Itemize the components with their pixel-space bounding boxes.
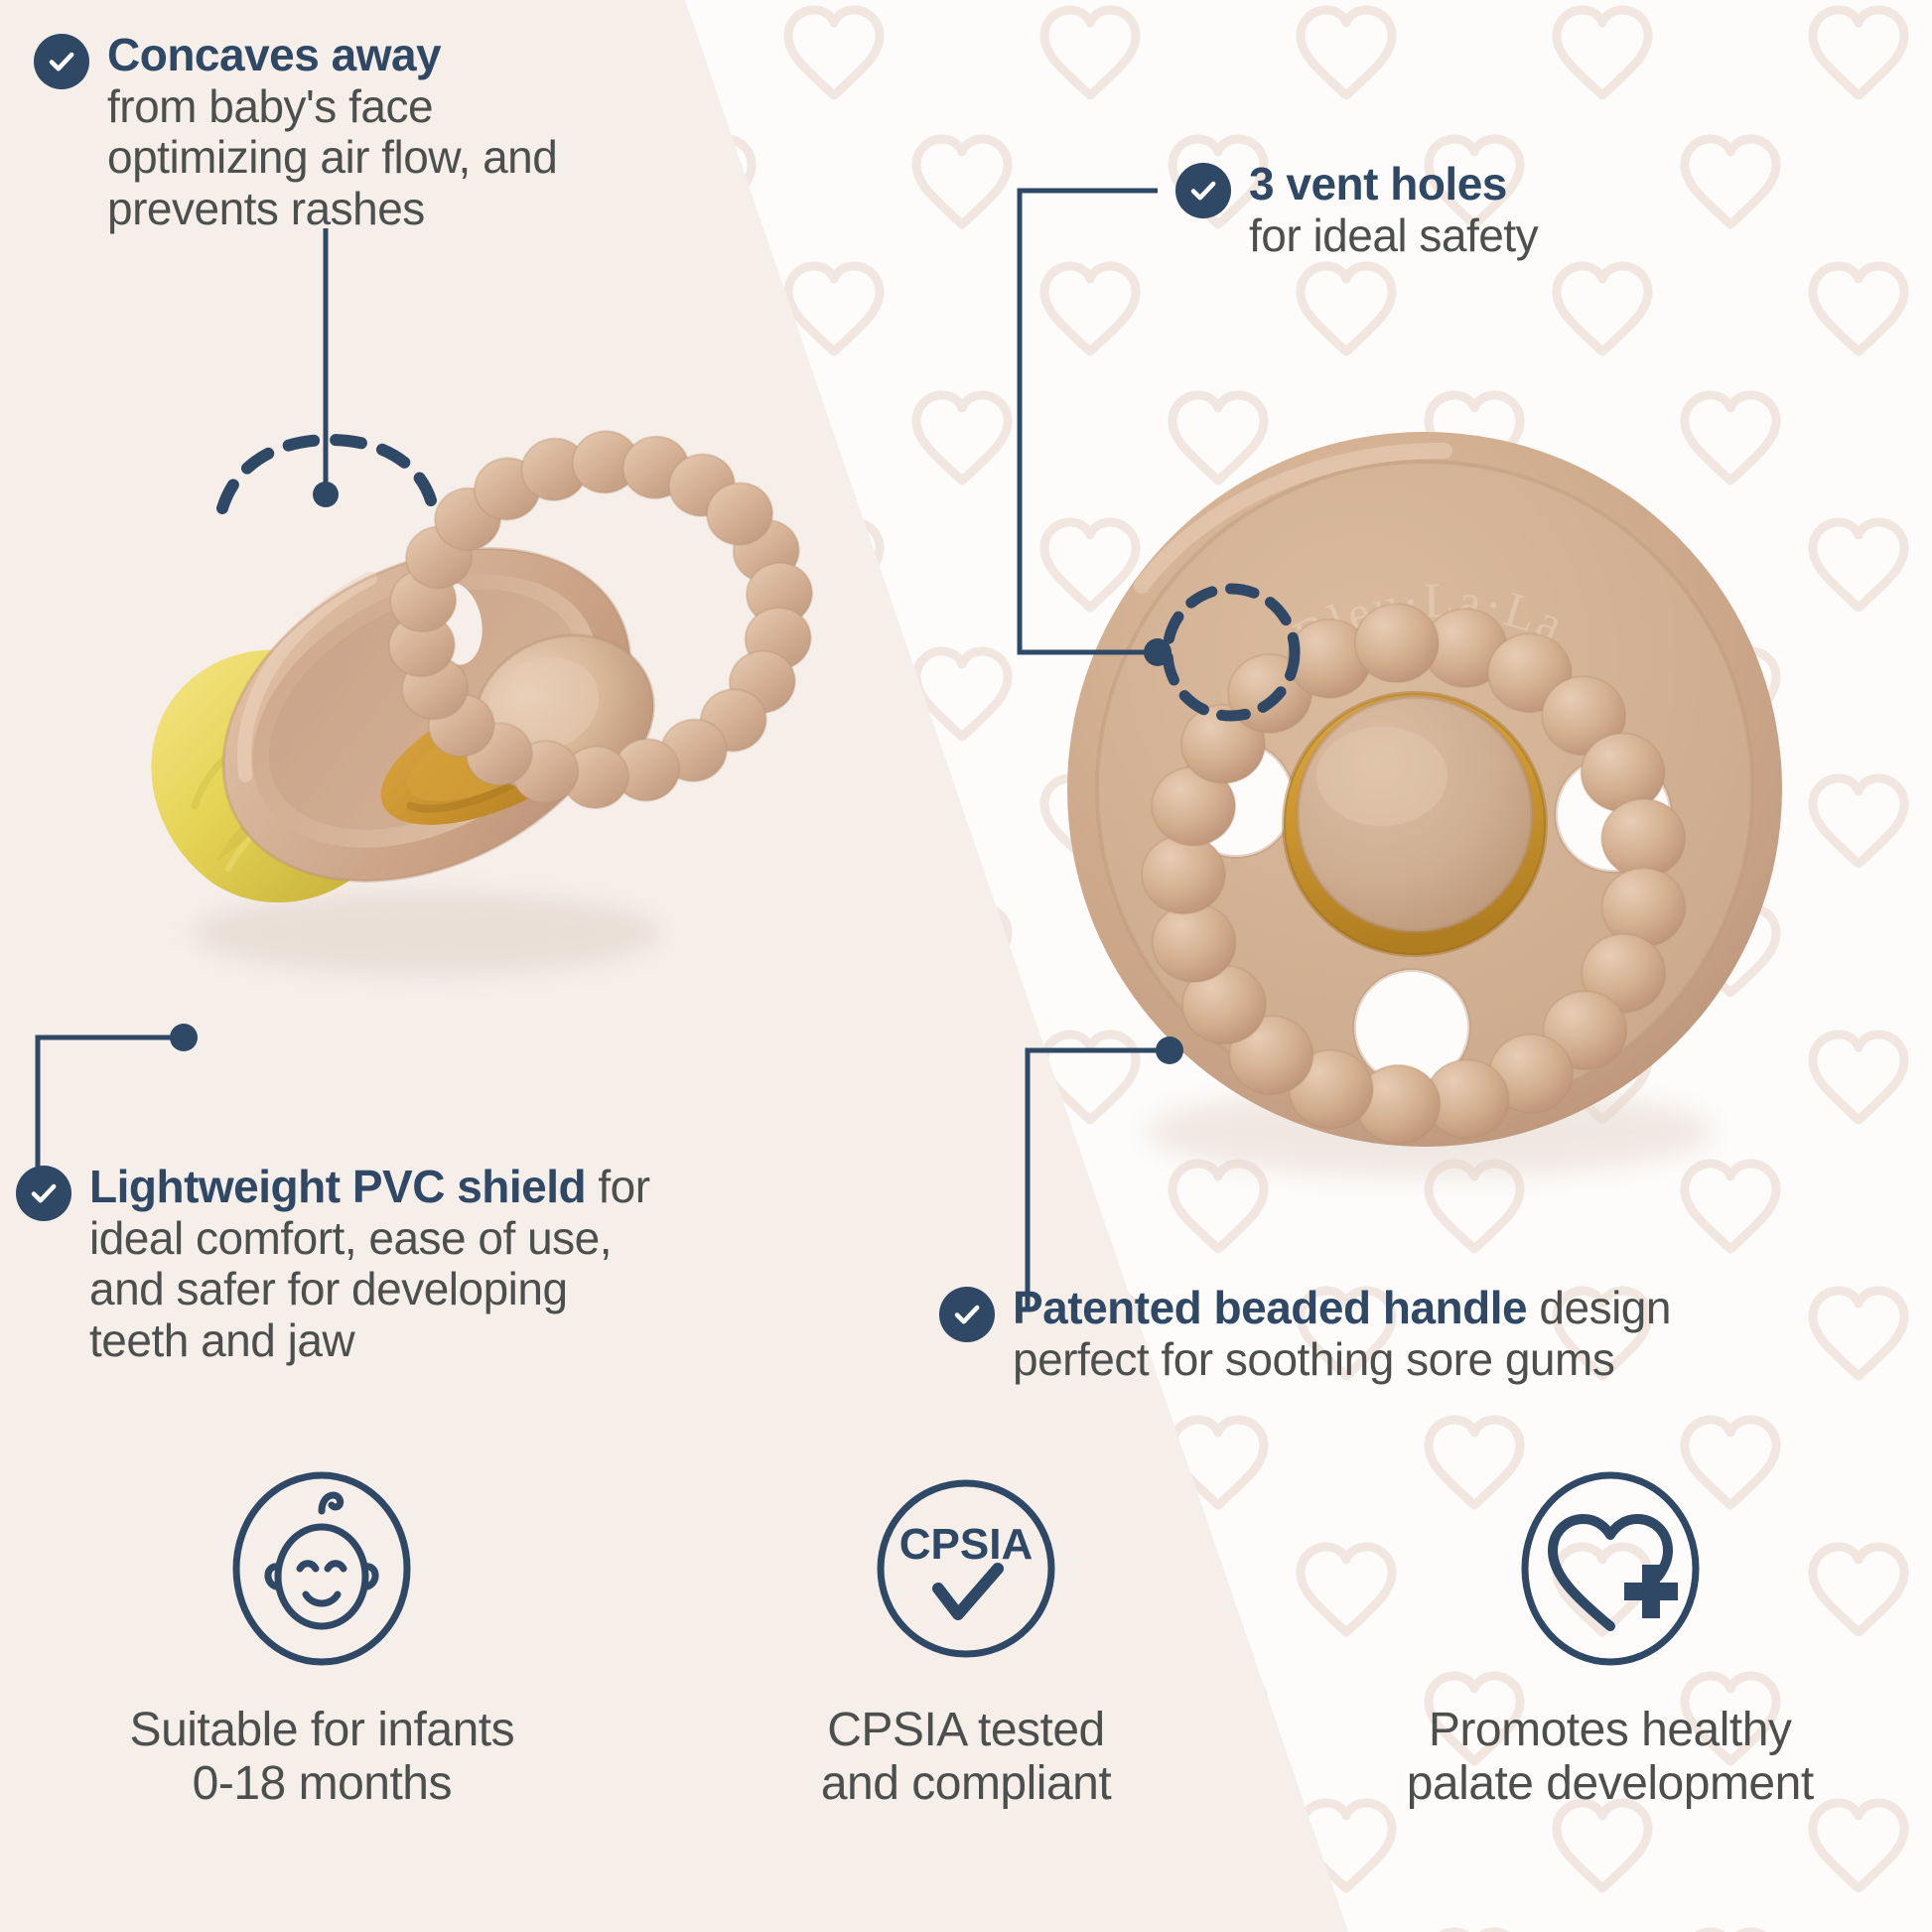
infographic-canvas: Bleu·La·La (0, 0, 1932, 1932)
pacifier-angled-view (99, 417, 834, 1003)
callout-line: from baby's face (107, 80, 433, 132)
callout-line: and safer for developing (89, 1263, 568, 1314)
feature-label-line: CPSIA tested (827, 1704, 1105, 1756)
check-circle-icon (1175, 163, 1231, 218)
callout-line: ideal comfort, ease of use, (89, 1212, 612, 1264)
cpsia-badge-icon: CPSIA (871, 1469, 1061, 1678)
callout-line: teeth and jaw (89, 1314, 354, 1366)
feature-label-line: and compliant (821, 1757, 1111, 1810)
callout-line: optimizing air flow, and (107, 131, 557, 183)
callout-beaded-handle: Patented beaded handle design perfect fo… (939, 1283, 1932, 1385)
feature-suitable-infants: Suitable for infants 0-18 months (0, 1469, 644, 1811)
check-circle-icon (16, 1166, 71, 1221)
callout-vent-holes: 3 vent holes for ideal safety (1175, 159, 1851, 261)
cpsia-badge-text: CPSIA (899, 1520, 1033, 1569)
baby-face-icon (226, 1469, 417, 1678)
heart-plus-icon (1515, 1469, 1706, 1678)
callout-headline: 3 vent holes (1249, 158, 1507, 209)
feature-label-line: Suitable for infants (130, 1704, 515, 1756)
callout-headline: Lightweight PVC shield (89, 1161, 586, 1212)
feature-label-line: palate development (1407, 1757, 1814, 1810)
check-circle-icon (34, 34, 89, 89)
check-circle-icon (939, 1287, 995, 1342)
feature-cpsia: CPSIA CPSIA tested and compliant (644, 1469, 1289, 1811)
callout-headline-tail: for (586, 1161, 649, 1212)
callout-line: prevents rashes (107, 183, 425, 234)
pacifier-front-view: Bleu·La·La (1033, 407, 1817, 1201)
callout-headline-tail: design (1527, 1282, 1671, 1333)
feature-badge-row: Suitable for infants 0-18 months CPSIA C… (0, 1469, 1932, 1932)
callout-line: perfect for soothing sore gums (1013, 1333, 1614, 1385)
feature-label-line: Promotes healthy (1429, 1704, 1792, 1756)
feature-palate: Promotes healthy palate development (1288, 1469, 1932, 1811)
callout-headline: Patented beaded handle (1013, 1282, 1527, 1333)
callout-headline: Concaves away (107, 29, 441, 80)
callout-concaves-away: Concaves away from baby's face optimizin… (34, 30, 669, 234)
feature-label-line: 0-18 months (193, 1757, 452, 1810)
callout-line: for ideal safety (1249, 209, 1538, 261)
callout-pvc-shield: Lightweight PVC shield for ideal comfort… (16, 1162, 850, 1366)
